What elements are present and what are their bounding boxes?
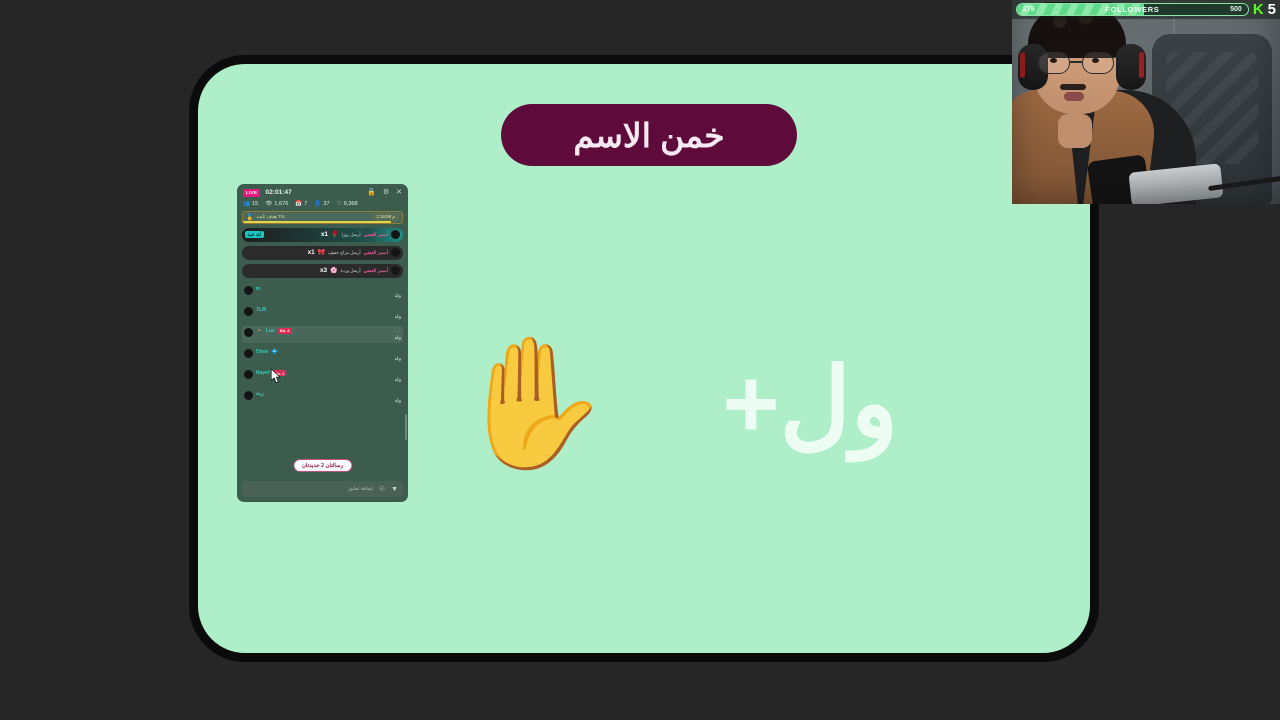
gift-row[interactable]: أسمر الفضي أرسل روزا 🌹 x1 أيك قنية: [242, 228, 403, 242]
avatar: [244, 391, 253, 400]
message-body: m ولد: [256, 286, 401, 299]
stat-followers: 👤 37: [314, 201, 329, 207]
stat-days: 📅 7: [295, 201, 307, 207]
follower-goal-count: 500: [1230, 6, 1242, 13]
close-icon[interactable]: ✕: [396, 189, 402, 196]
gift-message: أرسل روزا: [341, 232, 360, 238]
person-icon: 👤: [314, 201, 321, 207]
stat-views: 👁 1,676: [265, 201, 288, 207]
rank-badge: No. 1: [273, 370, 287, 376]
message-header: 7LM: [256, 307, 401, 313]
new-messages-pill[interactable]: رسالتان 2 جديدتان: [293, 459, 352, 472]
message-text: ولد: [256, 377, 401, 383]
message-text: ولد: [256, 356, 401, 362]
message-header: Nayef No. 1: [256, 370, 401, 376]
chat-message-row[interactable]: Nayef No. 1 ولد: [242, 368, 403, 385]
gift-message: أرسل وردة: [341, 268, 361, 274]
avatar: [244, 286, 253, 295]
message-username[interactable]: 7LM: [256, 307, 266, 313]
chat-message-row[interactable]: Dime 💠 ولد: [242, 347, 403, 364]
webcam-scene: [1012, 0, 1280, 204]
chat-header: LIVE 02:01:47 🔒 ⚙ ✕: [237, 184, 408, 200]
follower-goal-bar: 276 FOLLOWERS 500 K 5: [1012, 0, 1280, 19]
avatar: [244, 349, 253, 358]
goal-progress-row[interactable]: 🏅 7/4 هدف ثابت 1:16:58 م: [242, 211, 403, 224]
lock-icon[interactable]: 🔒: [367, 189, 376, 196]
gift-message: أرسل مزاج خفيف: [328, 250, 360, 256]
message-body: زينة ولد: [256, 391, 401, 404]
answer-text: ول+: [722, 347, 898, 461]
calendar-icon: 📅: [295, 201, 302, 207]
message-body: 🔸 Lux No. 2 ... ولد: [256, 328, 401, 341]
chat-input-bar: إضافة تعليق ☉ ▼: [237, 476, 408, 502]
content-card: خمن الاسم ✋ ول+ LIVE 02:01:47 🔒 ⚙ ✕ 👥 15: [189, 55, 1099, 662]
viewers-icon: 👥: [243, 201, 250, 207]
gift-multiplier: x3: [320, 267, 327, 274]
stat-viewers-value: 15: [252, 201, 258, 207]
heart-icon: ♡: [337, 201, 342, 207]
follower-progress-track: 276 FOLLOWERS 500: [1016, 3, 1249, 16]
gift-sender-name: أسمر الفضي: [364, 268, 388, 274]
chat-header-icons: 🔒 ⚙ ✕: [367, 189, 402, 196]
stat-followers-value: 37: [323, 201, 329, 207]
message-body: Nayef No. 1 ولد: [256, 370, 401, 383]
chat-input-placeholder[interactable]: إضافة تعليق: [247, 486, 373, 492]
message-text: ولد: [256, 293, 401, 299]
gift-multiplier: x1: [321, 231, 328, 238]
gift-icon: 🌸: [330, 267, 337, 274]
gift-tag: أيك قنية: [245, 231, 264, 238]
avatar: [391, 230, 400, 239]
rank-badge: No. 2: [278, 328, 292, 334]
message-username[interactable]: Dime: [256, 349, 268, 355]
stats-row: 👥 15 👁 1,676 📅 7 👤 37 ♡ 9,368: [237, 200, 408, 211]
stat-viewers: 👥 15: [243, 201, 258, 207]
gift-multiplier: x1: [308, 249, 315, 256]
message-header: m: [256, 286, 401, 292]
filter-icon[interactable]: ▼: [391, 486, 398, 493]
screen-root: خمن الاسم ✋ ول+ LIVE 02:01:47 🔒 ⚙ ✕ 👥 15: [0, 0, 1280, 720]
gift-icon: 🌹: [331, 231, 338, 238]
chat-message-row[interactable]: 7LM ولد: [242, 305, 403, 322]
stat-likes-value: 9,368: [344, 201, 358, 207]
gift-icon: 🎀: [318, 249, 325, 256]
message-header: زينة: [256, 391, 401, 397]
message-text: ولد: [256, 335, 401, 341]
follower-label: FOLLOWERS: [1017, 5, 1248, 14]
page-title: خمن الاسم: [573, 116, 724, 155]
message-body: 7LM ولد: [256, 307, 401, 320]
message-username[interactable]: زينة: [256, 391, 264, 397]
message-header: 🔸 Lux No. 2 ...: [256, 328, 401, 334]
settings-icon[interactable]: ⚙: [383, 189, 389, 196]
message-username[interactable]: Nayef: [256, 370, 270, 376]
gift-notifications: أسمر الفضي أرسل روزا 🌹 x1 أيك قنية أسمر …: [237, 228, 408, 278]
gift-sender-name: أسمر الفضي: [364, 232, 388, 238]
gift-row[interactable]: أسمر الفضي أرسل وردة 🌸 x3: [242, 264, 403, 278]
emoji-icon[interactable]: ☉: [379, 485, 385, 493]
chat-overlay-panel[interactable]: LIVE 02:01:47 🔒 ⚙ ✕ 👥 15 👁 1,676: [237, 184, 408, 502]
webcam-overlay: [1012, 0, 1280, 204]
message-emoji-icon: 💠: [271, 349, 278, 355]
gift-sender-name: أسمر الفضي: [364, 250, 388, 256]
stat-days-value: 7: [304, 201, 307, 207]
hand-emoji-icon: ✋: [453, 340, 612, 468]
message-emoji-icon: 🔸: [256, 328, 263, 334]
stream-timer: 02:01:47: [265, 189, 291, 196]
chat-message-row[interactable]: m ولد: [242, 284, 403, 301]
chat-scrollbar-thumb[interactable]: [405, 414, 407, 440]
message-header: Dime 💠: [256, 349, 401, 355]
stat-views-value: 1,676: [274, 201, 288, 207]
goal-text: 7/4 هدف ثابت: [256, 215, 284, 220]
gift-row[interactable]: أسمر الفضي أرسل مزاج خفيف 🎀 x1: [242, 246, 403, 260]
avatar: [244, 307, 253, 316]
kick-count: 5: [1268, 2, 1276, 17]
goal-progress-fill: [243, 221, 391, 223]
webcam-vignette: [1012, 0, 1280, 204]
chat-input-wrapper[interactable]: إضافة تعليق ☉ ▼: [242, 481, 403, 497]
avatar: [244, 328, 253, 337]
chat-message-row[interactable]: زينة ولد: [242, 389, 403, 406]
message-text: ولد: [256, 398, 401, 404]
message-username[interactable]: Lux: [266, 328, 275, 334]
eye-icon: 👁: [265, 201, 272, 207]
avatar: [391, 266, 400, 275]
live-badge: LIVE: [243, 189, 260, 197]
avatar: [391, 248, 400, 257]
goal-medal-icon: 🏅: [246, 214, 253, 221]
center-prompt: ✋ ول+: [453, 314, 1073, 494]
message-text: ولد: [256, 314, 401, 320]
chat-message-row-selected[interactable]: 🔸 Lux No. 2 ... ولد: [242, 326, 403, 343]
message-menu-icon[interactable]: ...: [393, 328, 401, 334]
message-body: Dime 💠 ولد: [256, 349, 401, 362]
kick-logo-icon: K: [1253, 2, 1264, 17]
avatar: [244, 370, 253, 379]
message-username[interactable]: m: [256, 286, 260, 292]
chat-message-list[interactable]: m ولد 7LM ولد: [237, 278, 408, 476]
stat-likes: ♡ 9,368: [337, 201, 358, 207]
title-pill: خمن الاسم: [501, 104, 797, 166]
